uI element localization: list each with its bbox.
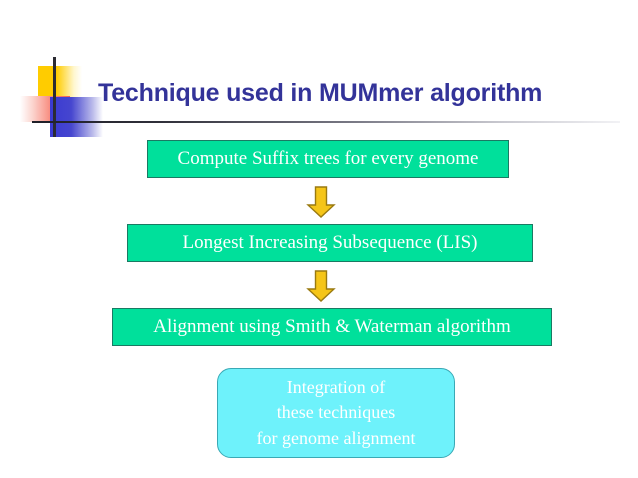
- flowchart-step-suffix-trees[interactable]: Compute Suffix trees for every genome: [147, 140, 509, 178]
- flowchart-result-integration[interactable]: Integration of these techniques for geno…: [217, 368, 455, 458]
- result-line-3: for genome alignment: [257, 426, 416, 452]
- logo-vertical-rule: [53, 57, 56, 137]
- flowchart-step-label: Compute Suffix trees for every genome: [178, 149, 479, 170]
- arrow-down-icon-1: [306, 186, 336, 218]
- slide-canvas: Technique used in MUMmer algorithm Compu…: [0, 0, 638, 478]
- flowchart-step-smith-waterman[interactable]: Alignment using Smith & Waterman algorit…: [112, 308, 552, 346]
- title-divider: [32, 121, 620, 123]
- flowchart-step-label: Alignment using Smith & Waterman algorit…: [153, 317, 511, 338]
- arrow-down-icon-2: [306, 270, 336, 302]
- page-title: Technique used in MUMmer algorithm: [98, 79, 618, 108]
- flowchart-step-lis[interactable]: Longest Increasing Subsequence (LIS): [127, 224, 533, 262]
- result-line-1: Integration of: [287, 375, 385, 401]
- blue-square-icon: [50, 97, 103, 137]
- result-line-2: these techniques: [277, 400, 395, 426]
- flowchart-step-label: Longest Increasing Subsequence (LIS): [183, 233, 478, 254]
